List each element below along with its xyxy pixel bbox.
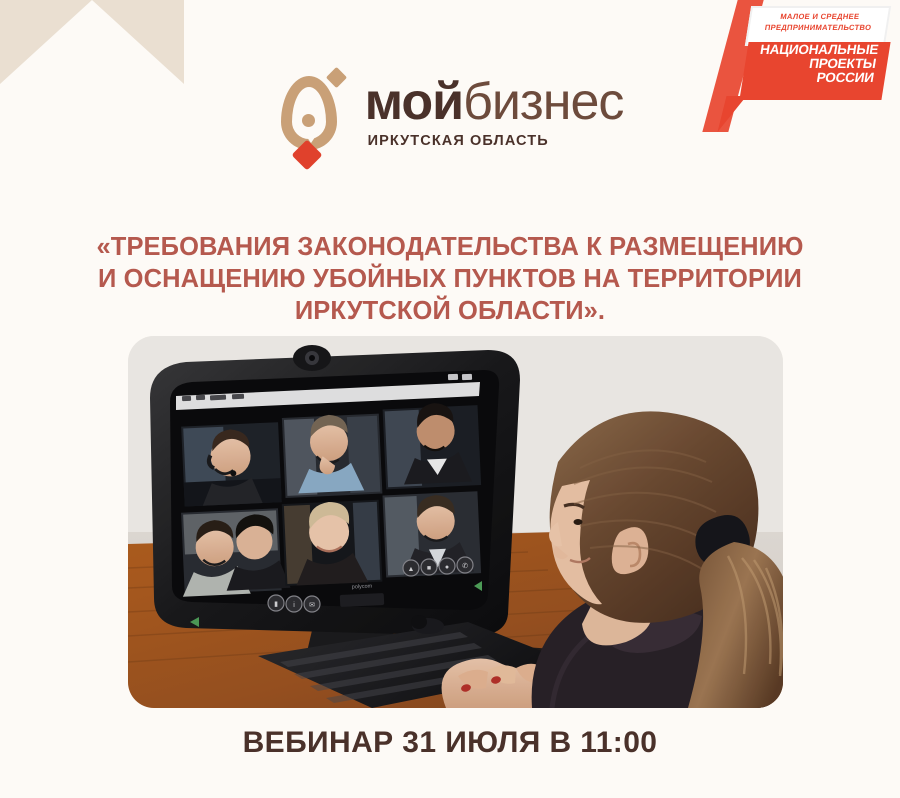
- page-title-line-2: И ОСНАЩЕНИЮ УБОЙНЫХ ПУНКТОВ НА ТЕРРИТОРИ…: [60, 264, 840, 296]
- brand-name: мойбизнес: [365, 78, 624, 128]
- badge-subtitle-line-2: ПРЕДПРИНИМАТЕЛЬСТВО: [750, 22, 886, 33]
- webinar-photo-illustration: ▲■ ●✆ ▮i✉ polycom: [128, 336, 783, 708]
- brand-logo: мойбизнес ИРКУТСКАЯ ОБЛАСТЬ: [0, 70, 900, 178]
- page-title-line-1: «ТРЕБОВАНИЯ ЗАКОНОДАТЕЛЬСТВА К РАЗМЕЩЕНИ…: [60, 232, 840, 264]
- webinar-photo: ▲■ ●✆ ▮i✉ polycom: [128, 336, 783, 708]
- brand-name-bold: мой: [365, 73, 464, 131]
- page-title-line-3: ИРКУТСКОЙ ОБЛАСТИ».: [60, 296, 840, 328]
- badge-title-line-2: ПРОЕКТЫ: [745, 57, 877, 71]
- badge-subtitle-line-1: МАЛОЕ И СРЕДНЕЕ: [752, 11, 888, 22]
- page-title: «ТРЕБОВАНИЯ ЗАКОНОДАТЕЛЬСТВА К РАЗМЕЩЕНИ…: [60, 232, 840, 328]
- webinar-datetime: ВЕБИНАР 31 ИЮЛЯ В 11:00: [0, 726, 900, 760]
- badge-title-line-1: НАЦИОНАЛЬНЫЕ: [747, 43, 879, 57]
- badge-subtitle: МАЛОЕ И СРЕДНЕЕ ПРЕДПРИНИМАТЕЛЬСТВО: [750, 11, 887, 33]
- pin-notch: [300, 127, 322, 143]
- location-pin-icon: [277, 70, 351, 178]
- pin-spark-icon: [325, 67, 346, 88]
- brand-region: ИРКУТСКАЯ ОБЛАСТЬ: [368, 133, 624, 149]
- brand-name-light: бизнес: [463, 73, 623, 131]
- brand-wordmark: мойбизнес ИРКУТСКАЯ ОБЛАСТЬ: [365, 70, 624, 149]
